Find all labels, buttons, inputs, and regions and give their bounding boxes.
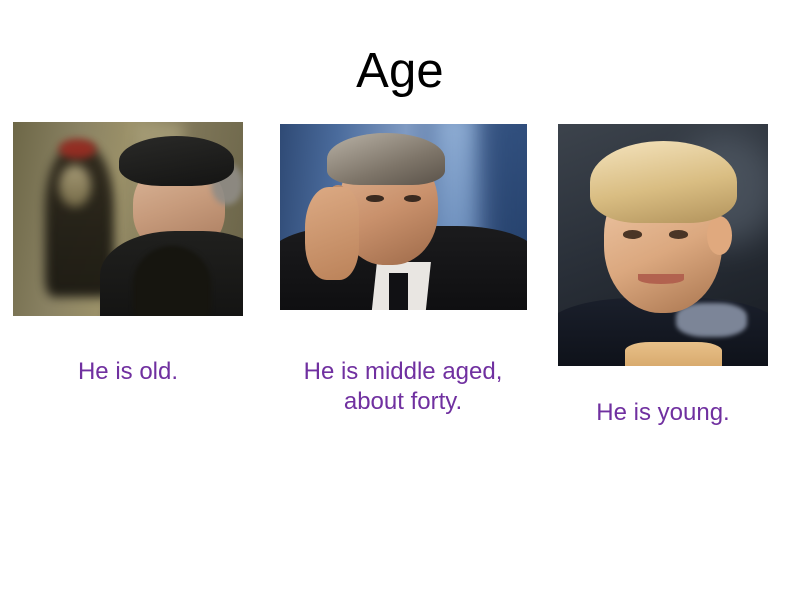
young-boy-eye-left: [623, 230, 642, 238]
young-boy-ear: [707, 216, 732, 255]
slide-canvas: Age He is old.: [0, 0, 800, 600]
photo-young-boy[interactable]: [558, 124, 768, 366]
caption-middle-aged-man-line1: He is middle aged,: [304, 358, 503, 385]
photo-middle-aged-man[interactable]: [280, 124, 527, 310]
middle-aged-man-hand: [305, 187, 359, 280]
young-boy-hair: [590, 141, 737, 223]
page-title: Age: [0, 42, 800, 100]
young-boy-mouth: [638, 274, 684, 284]
caption-middle-aged-man-line2: about forty.: [272, 387, 534, 417]
caption-young-boy: He is young.: [558, 398, 768, 428]
elderly-man-scarf: [133, 246, 211, 316]
middle-aged-man-tie: [389, 273, 409, 310]
elderly-man-beret: [119, 136, 234, 186]
young-boy-bread: [625, 342, 722, 366]
photo-elderly-man[interactable]: [13, 122, 243, 316]
middle-aged-man-hair: [327, 133, 446, 185]
young-boy-eye-right: [669, 230, 688, 238]
middle-aged-man-eye-left: [366, 195, 383, 202]
caption-elderly-man: He is old.: [13, 357, 243, 387]
caption-middle-aged-man: He is middle aged, about forty.: [272, 357, 534, 417]
background-figure-plume: [59, 139, 96, 158]
middle-aged-man-eye-right: [404, 195, 421, 202]
